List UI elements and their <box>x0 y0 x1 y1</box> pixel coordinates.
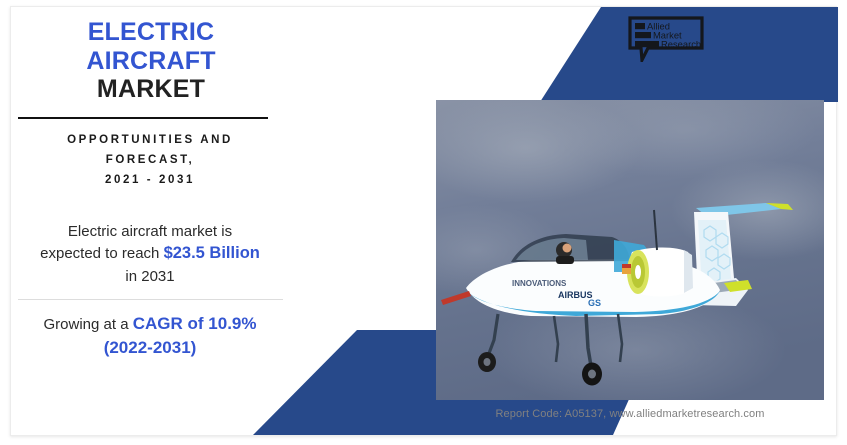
subtitle-line-2: FORECAST, <box>14 150 286 170</box>
stat-divider <box>18 299 283 300</box>
report-caption: Report Code: A05137, www.alliedmarketres… <box>436 408 824 420</box>
marking-gs: GS <box>588 298 601 308</box>
infographic-root: Allied Market Research ELECTRIC AIRCRAFT… <box>0 0 847 445</box>
subtitle-line-3: 2021 - 2031 <box>14 170 286 190</box>
title-line-2: AIRCRAFT <box>18 47 284 76</box>
report-subtitle: OPPORTUNITIES AND FORECAST, 2021 - 2031 <box>14 130 286 190</box>
market-size-suffix: in 2031 <box>125 268 174 285</box>
market-size-lead: expected to reach <box>40 245 159 262</box>
cagr-prefix: Growing at a <box>44 316 129 333</box>
allied-market-research-logo: Allied Market Research <box>628 16 706 62</box>
cagr-period: (2022-2031) <box>104 338 197 357</box>
cagr-statement: Growing at a CAGR of 10.9% (2022-2031) <box>8 312 292 360</box>
title-divider <box>18 117 268 119</box>
market-size-value: $23.5 Billion <box>164 244 260 262</box>
logo-line-3: Research <box>661 38 701 49</box>
aircraft-photo: INNOVATIONS AIRBUS GS <box>436 100 824 400</box>
title-line-1: ELECTRIC <box>18 18 284 47</box>
cagr-value: CAGR of 10.9% <box>133 314 257 333</box>
market-size-prefix: Electric aircraft market is <box>68 223 232 240</box>
subtitle-line-1: OPPORTUNITIES AND <box>14 130 286 150</box>
title-line-3: MARKET <box>18 75 284 104</box>
marking-innovations: INNOVATIONS <box>512 279 567 288</box>
page-title: ELECTRIC AIRCRAFT MARKET <box>18 18 284 104</box>
market-size-statement: Electric aircraft market is expected to … <box>8 221 292 287</box>
